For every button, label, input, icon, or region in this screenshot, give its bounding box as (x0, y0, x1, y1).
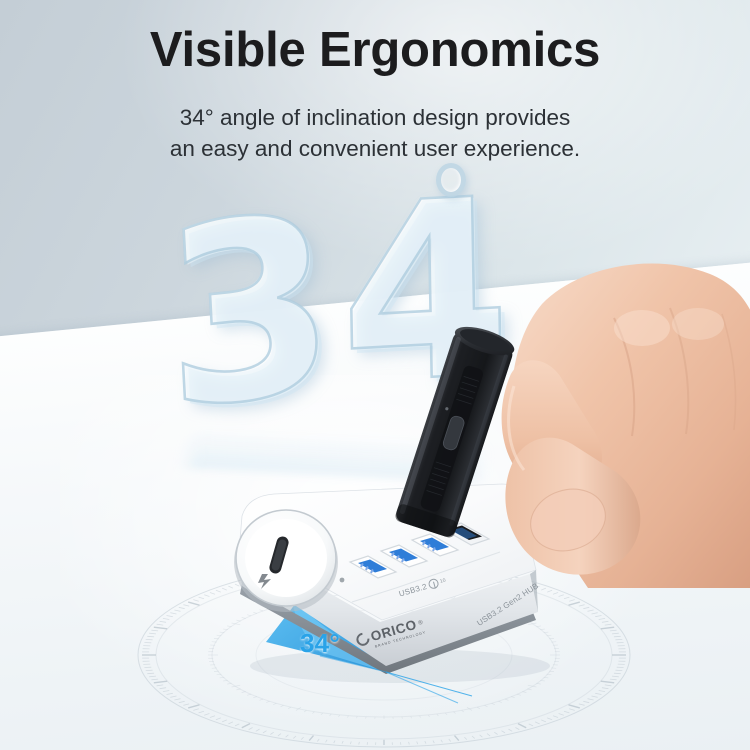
floor-plane (0, 254, 750, 750)
page-subtitle: 34° angle of inclination design provides… (0, 103, 750, 164)
angle-callout-label: 34° (300, 628, 340, 659)
page-title: Visible Ergonomics (0, 22, 750, 78)
product-marketing-image: Visible Ergonomics 34° angle of inclinat… (0, 0, 750, 750)
registered-mark: ® (418, 619, 424, 626)
subtitle-line-1: 34° angle of inclination design provides (0, 103, 750, 134)
subtitle-line-2: an easy and convenient user experience. (0, 134, 750, 165)
glass-degree-symbol (436, 163, 466, 197)
port-speed-text: 10 (439, 577, 446, 584)
